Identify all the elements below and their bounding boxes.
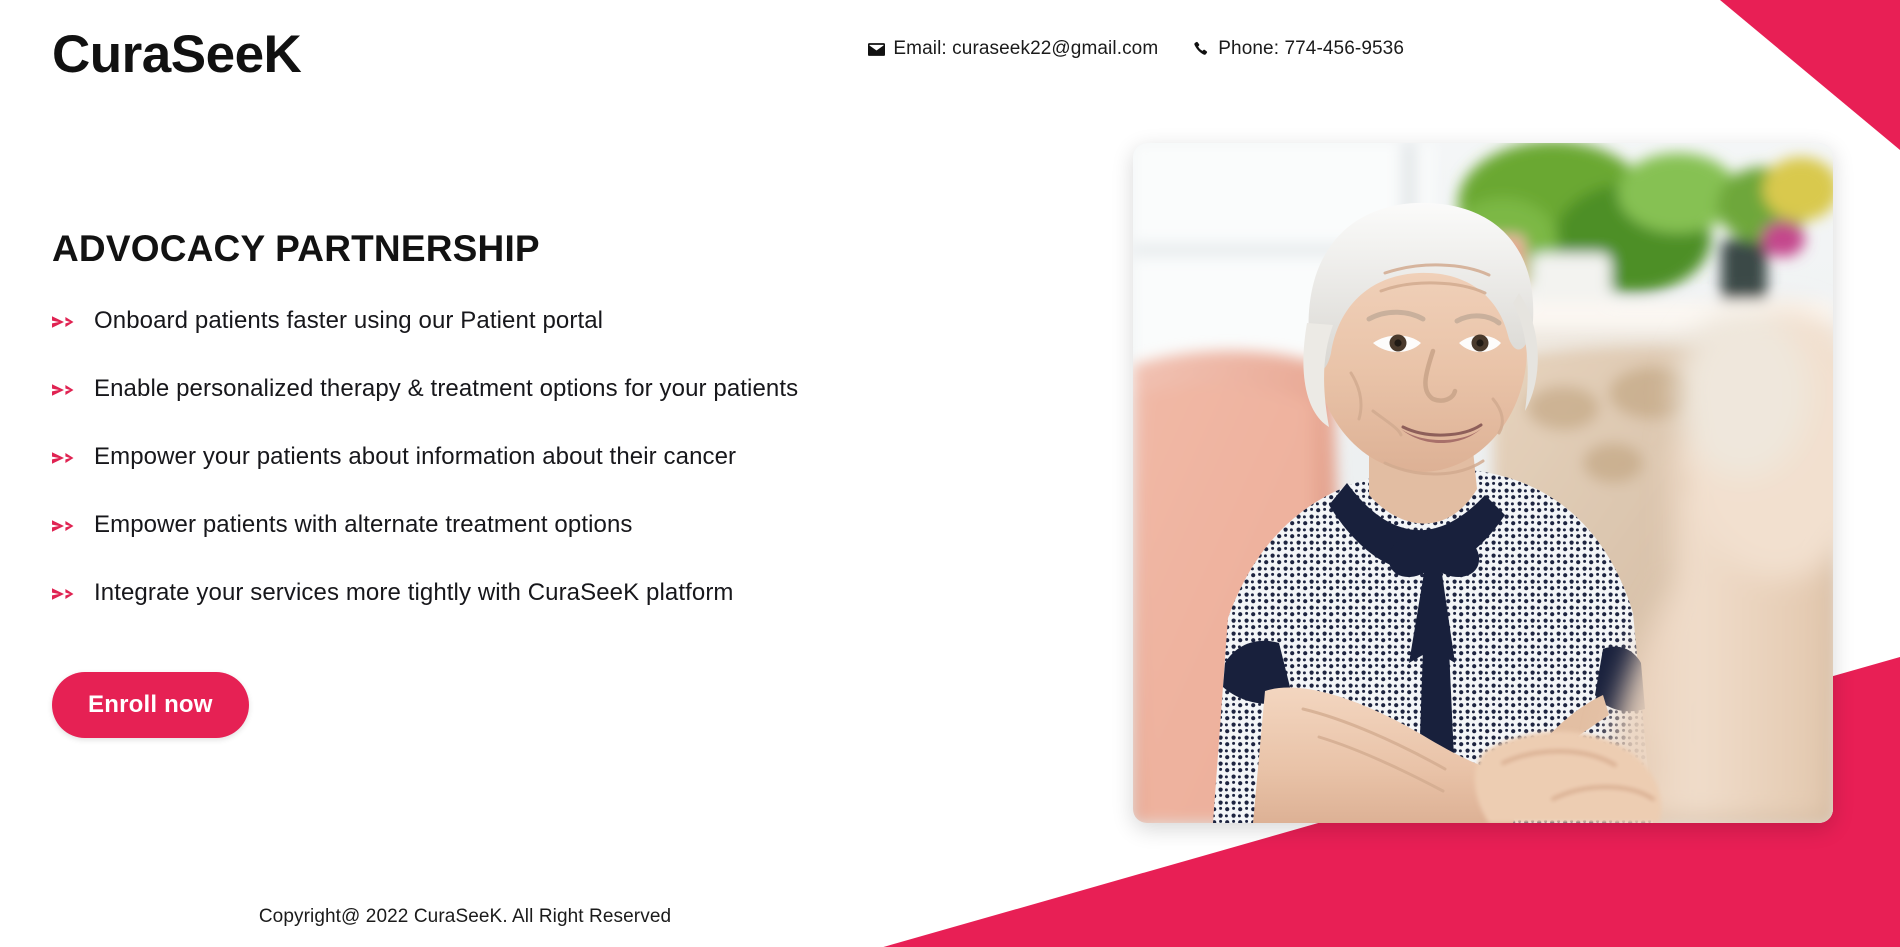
arrow-right-icon	[52, 383, 74, 397]
list-item: Empower your patients about information …	[52, 442, 912, 472]
feature-list: Onboard patients faster using our Patien…	[52, 306, 912, 608]
contact-phone[interactable]: Phone: 774-456-9536	[1192, 38, 1404, 60]
list-item: Integrate your services more tightly wit…	[52, 578, 912, 608]
arrow-right-icon	[52, 451, 74, 465]
list-item-label: Empower patients with alternate treatmen…	[94, 510, 633, 540]
list-item-label: Empower your patients about information …	[94, 442, 736, 472]
hero-photo-illustration	[1133, 143, 1833, 823]
contact-phone-label: Phone: 774-456-9536	[1218, 38, 1404, 60]
list-item-label: Enable personalized therapy & treatment …	[94, 374, 798, 404]
list-item: Empower patients with alternate treatmen…	[52, 510, 912, 540]
arrow-right-icon	[52, 587, 74, 601]
contact-email-label: Email: curaseek22@gmail.com	[893, 38, 1158, 60]
contact-bar: Email: curaseek22@gmail.com Phone: 774-4…	[867, 38, 1404, 60]
arrow-right-icon	[52, 315, 74, 329]
page-title: ADVOCACY PARTNERSHIP	[52, 228, 912, 270]
hero-photo	[1133, 143, 1833, 823]
list-item-label: Integrate your services more tightly wit…	[94, 578, 734, 608]
copyright-text: Copyright@ 2022 CuraSeeK. All Right Rese…	[259, 906, 671, 928]
landing-page: CuraSeeK Email: curaseek22@gmail.com	[0, 0, 1900, 947]
list-item: Onboard patients faster using our Patien…	[52, 306, 912, 336]
brand-logo[interactable]: CuraSeeK	[52, 26, 301, 84]
list-item-label: Onboard patients faster using our Patien…	[94, 306, 603, 336]
arrow-right-icon	[52, 519, 74, 533]
contact-email[interactable]: Email: curaseek22@gmail.com	[867, 38, 1158, 60]
hero-content: ADVOCACY PARTNERSHIP Onboard patients fa…	[52, 228, 912, 738]
site-footer: Copyright@ 2022 CuraSeeK. All Right Rese…	[0, 887, 930, 947]
enroll-now-button[interactable]: Enroll now	[52, 672, 249, 738]
phone-icon	[1192, 40, 1210, 58]
site-header: CuraSeeK Email: curaseek22@gmail.com	[0, 0, 1900, 115]
envelope-icon	[867, 40, 885, 58]
list-item: Enable personalized therapy & treatment …	[52, 374, 912, 404]
